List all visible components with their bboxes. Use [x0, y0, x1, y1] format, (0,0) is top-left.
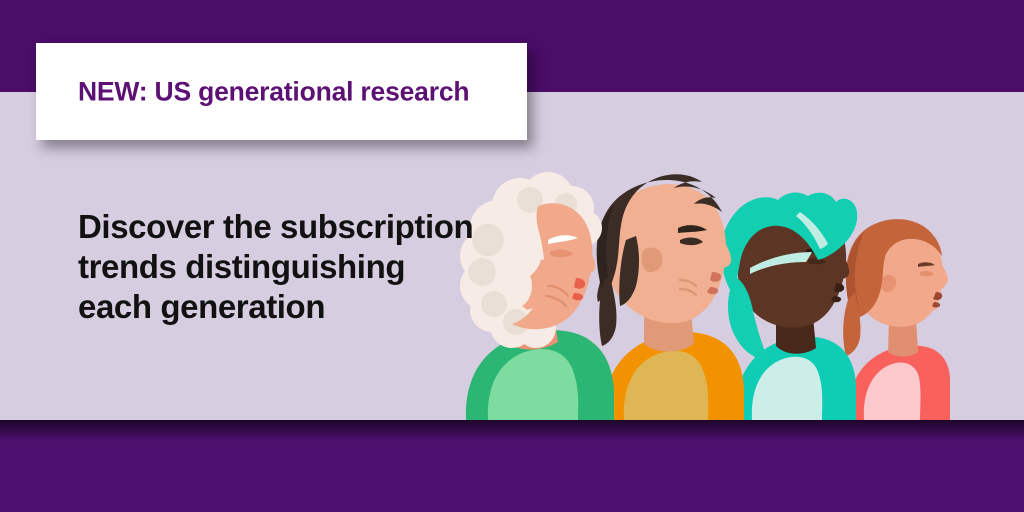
marketing-banner: NEW: US generational research Discover t…: [0, 0, 1024, 512]
bottom-purple-band: [0, 420, 1024, 512]
badge-label: NEW: US generational research: [78, 76, 469, 107]
page-title: Discover the subscription trends disting…: [78, 207, 498, 327]
new-research-badge[interactable]: NEW: US generational research: [36, 43, 527, 140]
headline-line-2: trends distinguishing: [78, 247, 498, 287]
headline-line-3: each generation: [78, 287, 498, 327]
headline-line-1: Discover the subscription: [78, 207, 498, 247]
